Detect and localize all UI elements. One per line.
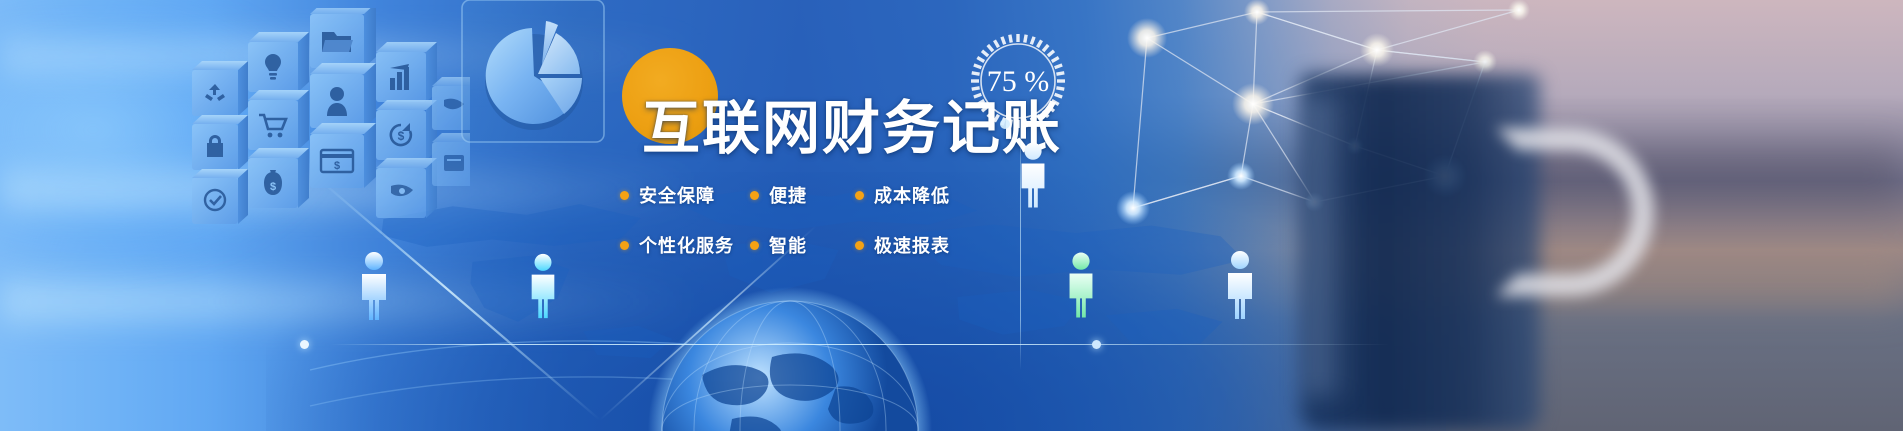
- app-icon-cube: $: [170, 8, 470, 258]
- feature-item-2[interactable]: 成本降低: [855, 182, 950, 208]
- mug-highlight: [1306, 96, 1352, 396]
- svg-text:$: $: [398, 129, 405, 143]
- feature-label: 成本降低: [874, 182, 950, 208]
- blurred-mug-photo: [1300, 0, 1660, 431]
- svg-text:$: $: [334, 160, 340, 172]
- vertical-rule: [1020, 120, 1021, 370]
- bullet-dot-icon: [620, 191, 629, 200]
- feature-item-4[interactable]: 智能: [750, 232, 855, 258]
- gauge-value: 75 %: [987, 65, 1050, 98]
- feature-label: 极速报表: [874, 232, 950, 258]
- feature-label: 安全保障: [639, 182, 715, 208]
- feature-row-2: 个性化服务 智能 极速报表: [620, 232, 992, 258]
- svg-text:$: $: [270, 181, 276, 193]
- feature-item-3[interactable]: 个性化服务: [620, 232, 750, 258]
- feature-item-5[interactable]: 极速报表: [855, 232, 950, 258]
- feature-item-1[interactable]: 便捷: [750, 182, 855, 208]
- feature-list: 安全保障 便捷 成本降低 个性化服务 智能 极速报表: [620, 182, 992, 258]
- feature-label: 智能: [769, 232, 807, 258]
- mug-handle: [1496, 128, 1654, 296]
- globe-graphic: [640, 279, 940, 431]
- bullet-dot-icon: [855, 241, 864, 250]
- feature-label: 个性化服务: [639, 232, 734, 258]
- person-figure-2: [522, 252, 564, 320]
- feature-item-0[interactable]: 安全保障: [620, 182, 750, 208]
- horizontal-rule: [330, 344, 1390, 345]
- person-figure-4: [1060, 250, 1102, 320]
- pie-chart-panel: [458, 0, 610, 148]
- person-figure-5: [1218, 248, 1262, 322]
- rule-endpoint-dot-left: [300, 340, 309, 349]
- promo-banner: $: [0, 0, 1903, 431]
- bullet-dot-icon: [855, 191, 864, 200]
- bullet-dot-icon: [620, 241, 629, 250]
- person-figure-1: [352, 250, 396, 322]
- person-figure-3: [1012, 140, 1054, 210]
- rule-endpoint-dot-right: [1092, 340, 1101, 349]
- bullet-dot-icon: [750, 241, 759, 250]
- feature-row-1: 安全保障 便捷 成本降低: [620, 182, 992, 208]
- bullet-dot-icon: [750, 191, 759, 200]
- feature-label: 便捷: [769, 182, 807, 208]
